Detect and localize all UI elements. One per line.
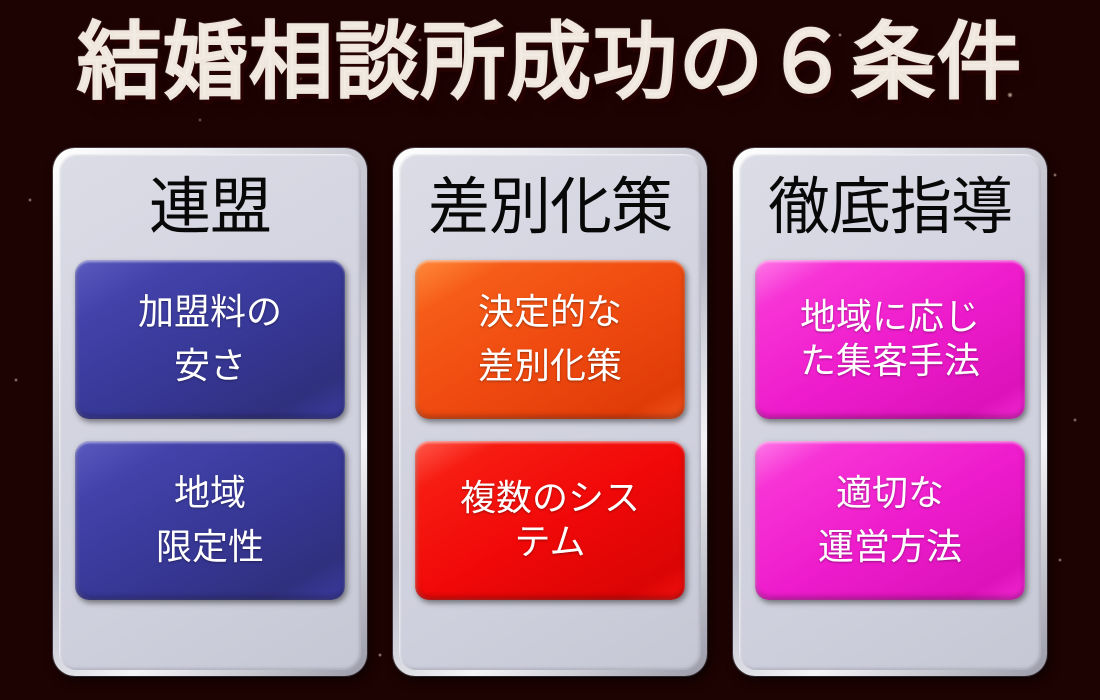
card-1-1[interactable]: 加盟料の 安さ <box>75 260 345 419</box>
panel-inner: 徹底指導 地域に応じ た集客手法 適切な 運営方法 <box>739 154 1041 670</box>
panel-heading-3: 徹底指導 <box>755 176 1025 238</box>
cards-list-2: 決定的な 差別化策 複数のシス テム <box>415 260 685 654</box>
card-line: 複数のシス <box>460 477 640 521</box>
card-line: 限定性 <box>156 521 264 575</box>
cards-list-1: 加盟料の 安さ 地域 限定性 <box>75 260 345 654</box>
panel-inner: 差別化策 決定的な 差別化策 複数のシス テム <box>399 154 701 670</box>
card-line: た集客手法 <box>800 340 980 384</box>
panel-heading-2: 差別化策 <box>415 176 685 238</box>
page-title: 結婚相談所成功の６条件 <box>0 18 1100 106</box>
slide-canvas: 結婚相談所成功の６条件 連盟 加盟料の 安さ 地域 限定性 <box>0 0 1100 700</box>
card-line: 地域 <box>174 467 246 521</box>
card-line: 安さ <box>174 340 246 394</box>
panel-tetteishido: 徹底指導 地域に応じ た集客手法 適切な 運営方法 <box>733 148 1047 676</box>
panel-renmei: 連盟 加盟料の 安さ 地域 限定性 <box>53 148 367 676</box>
panel-inner: 連盟 加盟料の 安さ 地域 限定性 <box>59 154 361 670</box>
card-1-2[interactable]: 地域 限定性 <box>75 441 345 600</box>
cards-list-3: 地域に応じ た集客手法 適切な 運営方法 <box>755 260 1025 654</box>
columns-container: 連盟 加盟料の 安さ 地域 限定性 差別化策 <box>0 148 1100 676</box>
card-2-1[interactable]: 決定的な 差別化策 <box>415 260 685 419</box>
panel-sabetsukasaku: 差別化策 決定的な 差別化策 複数のシス テム <box>393 148 707 676</box>
card-line: 差別化策 <box>478 340 622 394</box>
card-2-2[interactable]: 複数のシス テム <box>415 441 685 600</box>
card-line: 適切な <box>836 467 944 521</box>
card-line: 決定的な <box>478 286 622 340</box>
card-line: 地域に応じ <box>800 296 980 340</box>
card-line: テム <box>515 521 586 565</box>
card-3-1[interactable]: 地域に応じ た集客手法 <box>755 260 1025 419</box>
panel-heading-1: 連盟 <box>75 176 345 238</box>
card-line: 加盟料の <box>138 286 282 340</box>
card-line: 運営方法 <box>818 521 962 575</box>
card-3-2[interactable]: 適切な 運営方法 <box>755 441 1025 600</box>
